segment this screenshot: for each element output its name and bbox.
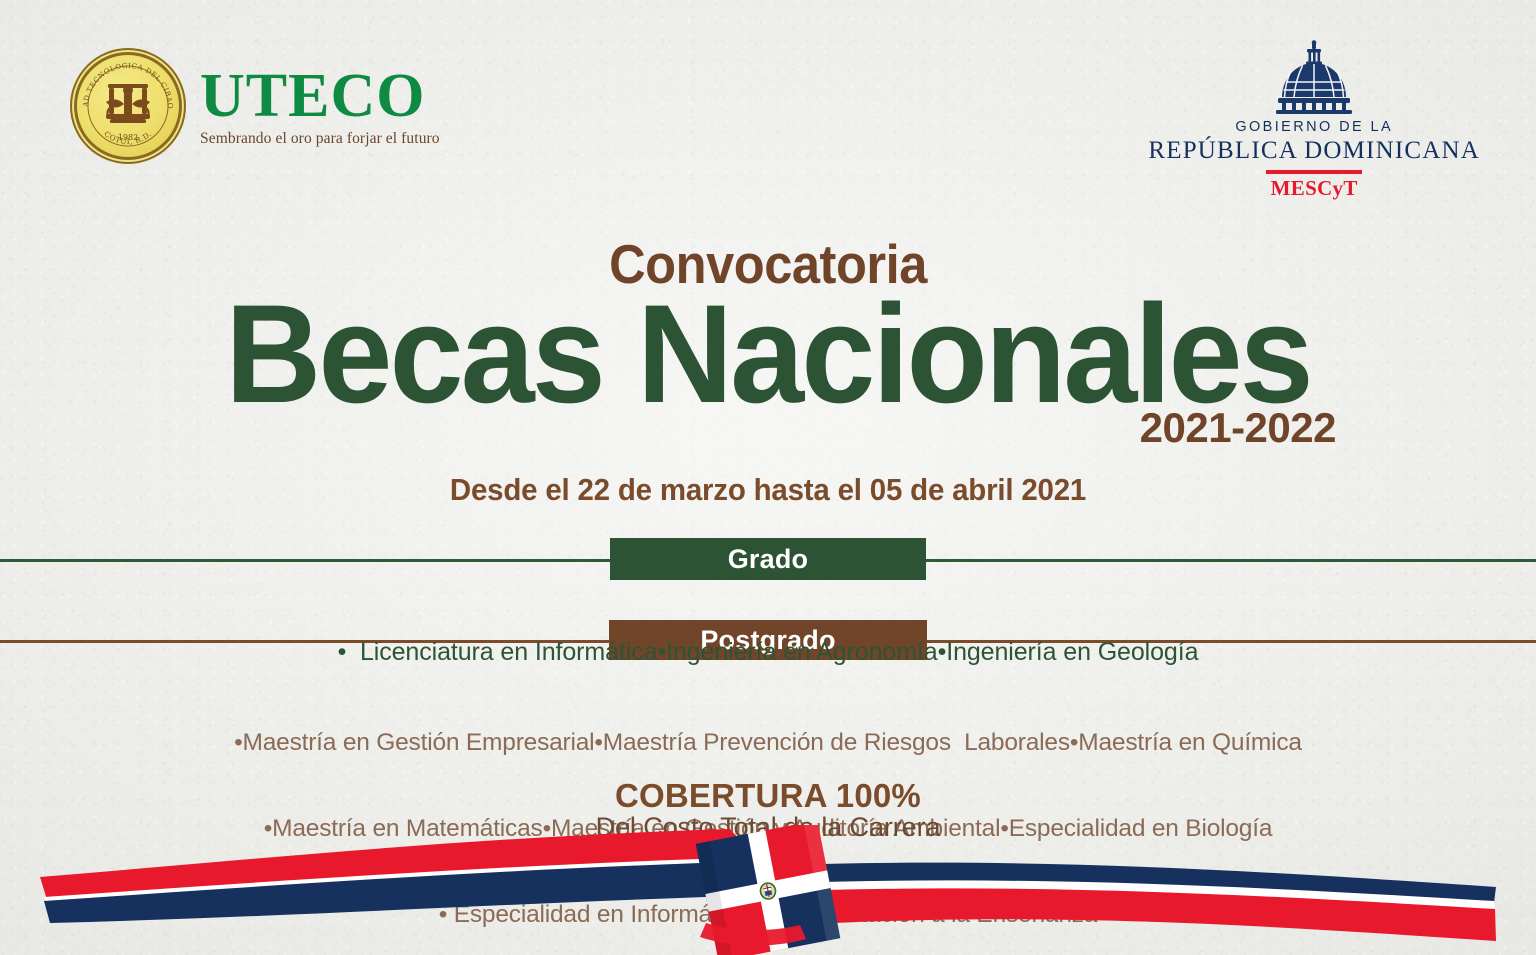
list-item: • Licenciatura en Informática•Ingeniería… bbox=[0, 638, 1536, 667]
list-item: •Maestría en Gestión Empresarial•Maestrí… bbox=[0, 729, 1536, 758]
poster-canvas: UNIVERSIDAD TECNOLOGICA DEL CIBAO ORIENT… bbox=[0, 0, 1536, 955]
uteco-logo: UNIVERSIDAD TECNOLOGICA DEL CIBAO ORIENT… bbox=[70, 48, 440, 164]
mescyt-divider bbox=[1266, 170, 1362, 174]
grado-section-band: Grado bbox=[610, 538, 926, 580]
svg-text:UNIVERSIDAD TECNOLOGICA DEL CI: UNIVERSIDAD TECNOLOGICA DEL CIBAO ORIENT… bbox=[72, 50, 175, 109]
capitol-dome-icon bbox=[1262, 40, 1366, 114]
uteco-tagline: Sembrando el oro para forjar el futuro bbox=[200, 131, 440, 147]
grado-section-label: Grado bbox=[728, 544, 809, 575]
svg-text:1982: 1982 bbox=[118, 133, 138, 142]
uteco-wordmark: UTECO bbox=[200, 65, 440, 127]
university-seal-icon: UNIVERSIDAD TECNOLOGICA DEL CIBAO ORIENT… bbox=[70, 48, 186, 164]
title-years: 2021-2022 bbox=[1140, 404, 1336, 452]
page-title: Becas Nacionales bbox=[38, 284, 1497, 424]
coverage-headline: COBERTURA 100% bbox=[0, 777, 1536, 815]
mescyt-label: MESCyT bbox=[1271, 176, 1358, 201]
application-dates: Desde el 22 de marzo hasta el 05 de abri… bbox=[38, 472, 1497, 508]
government-line2: REPÚBLICA DOMINICANA bbox=[1148, 137, 1480, 165]
government-line1: GOBIERNO DE LA bbox=[1235, 119, 1393, 135]
government-logo: GOBIERNO DE LA REPÚBLICA DOMINICANA MESC… bbox=[1148, 40, 1480, 201]
dominican-flag-ribbon-icon bbox=[0, 825, 1536, 955]
